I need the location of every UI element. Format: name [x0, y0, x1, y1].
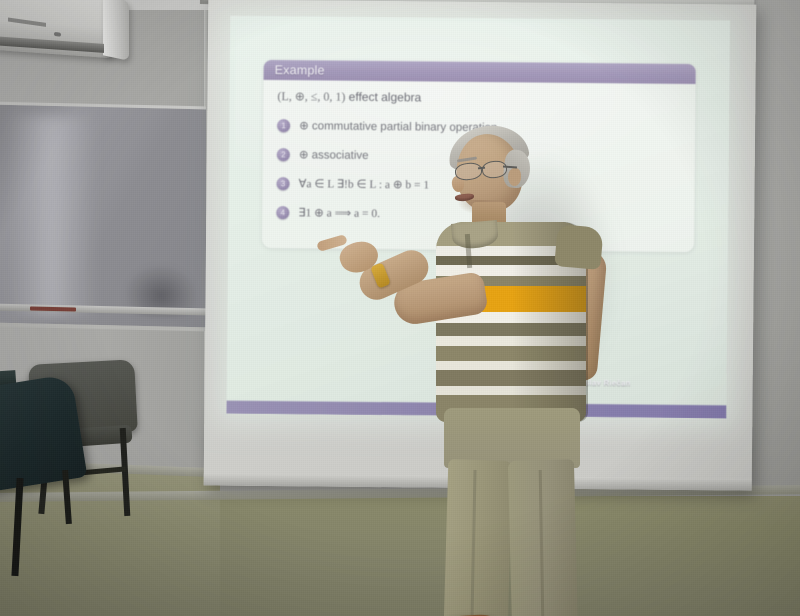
air-conditioner-label	[8, 18, 46, 27]
whiteboard-glare	[6, 115, 96, 317]
slide-lead-text: effect algebra	[345, 90, 421, 105]
photograph-scene: Example (L, ⊕, ≤, 0, 1) effect algebra 1…	[0, 0, 800, 616]
bullet-number-icon: 2	[277, 148, 290, 161]
presenter	[400, 130, 630, 616]
bullet-text: ⊕ associative	[299, 147, 369, 162]
slide-lead-line: (L, ⊕, ≤, 0, 1) effect algebra	[277, 89, 683, 108]
presenter-left-sleeve	[554, 224, 603, 270]
bullet-number-icon: 3	[277, 177, 290, 190]
bullet-number-icon: 4	[276, 206, 289, 219]
slide-lead-math: (L, ⊕, ≤, 0, 1)	[277, 89, 345, 104]
bullet-number-icon: 1	[277, 119, 290, 132]
presenter-ear	[508, 168, 521, 186]
air-conditioner-side-panel	[103, 0, 129, 61]
whiteboard	[0, 102, 206, 332]
slide-title: Example	[275, 63, 325, 77]
presenter-left-leg	[444, 459, 513, 616]
bullet-text: ∃1 ⊕ a ⟹ a = 0.	[298, 205, 380, 220]
air-conditioner-led-icon	[54, 32, 61, 37]
